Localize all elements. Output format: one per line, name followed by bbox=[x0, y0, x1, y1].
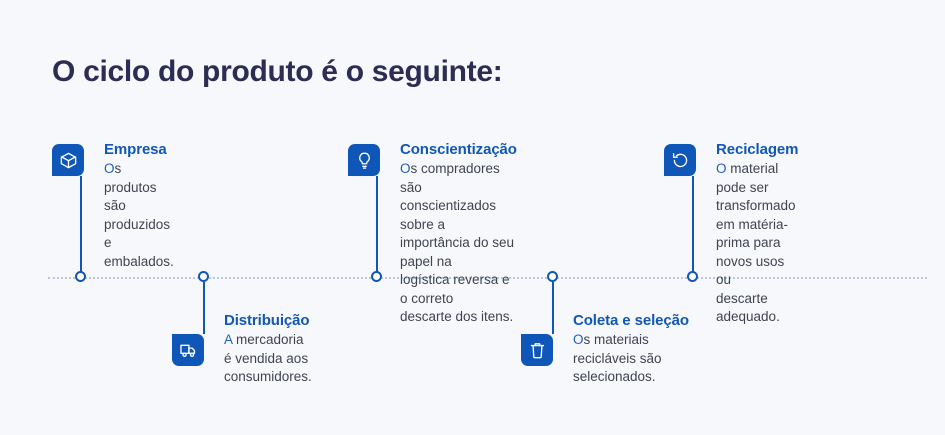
step-title-distribuicao: Distribuição bbox=[224, 312, 312, 329]
step-description-reciclagem: O material pode ser transformado em maté… bbox=[716, 160, 798, 327]
stem-reciclagem bbox=[692, 176, 694, 272]
step-description-conscientizacao: Os compradores são conscientizados sobre… bbox=[400, 160, 517, 327]
step-icon-badge-empresa bbox=[52, 144, 84, 176]
step-description-coleta-e-selecao: Os materiais recicláveis são selecionado… bbox=[573, 331, 689, 387]
step-text-reciclagem: Reciclagem O material pode ser transform… bbox=[716, 141, 798, 327]
step-text-conscientizacao: Conscientização Os compradores são consc… bbox=[400, 141, 517, 327]
stem-empresa bbox=[80, 176, 82, 272]
package-box-icon bbox=[59, 151, 78, 170]
step-title-conscientizacao: Conscientização bbox=[400, 141, 517, 158]
stem-conscientizacao bbox=[376, 176, 378, 272]
delivery-truck-icon bbox=[179, 341, 198, 360]
timeline-node-reciclagem bbox=[687, 271, 698, 282]
stem-coleta-e-selecao bbox=[552, 282, 554, 334]
step-icon-badge-distribuicao bbox=[172, 334, 204, 366]
step-description-distribuicao: A mercadoria é vendida aos consumidores. bbox=[224, 331, 312, 387]
page-title: O ciclo do produto é o seguinte: bbox=[52, 55, 502, 89]
step-title-reciclagem: Reciclagem bbox=[716, 141, 798, 158]
step-text-coleta-e-selecao: Coleta e seleção Os materiais reciclávei… bbox=[573, 312, 689, 387]
lightbulb-icon bbox=[355, 151, 374, 170]
trash-bin-icon bbox=[528, 341, 547, 360]
timeline-node-empresa bbox=[75, 271, 86, 282]
timeline-node-coleta-e-selecao bbox=[547, 271, 558, 282]
step-description-empresa: Os produtos são produzidos e embalados. bbox=[104, 160, 174, 271]
step-text-empresa: Empresa Os produtos são produzidos e emb… bbox=[104, 141, 174, 271]
step-title-coleta-e-selecao: Coleta e seleção bbox=[573, 312, 689, 329]
recycle-arrow-icon bbox=[671, 151, 690, 170]
product-cycle-infographic: O ciclo do produto é o seguinte: Empresa… bbox=[0, 0, 945, 435]
step-icon-badge-reciclagem bbox=[664, 144, 696, 176]
step-icon-badge-coleta-e-selecao bbox=[521, 334, 553, 366]
step-title-empresa: Empresa bbox=[104, 141, 174, 158]
timeline-node-distribuicao bbox=[198, 271, 209, 282]
step-icon-badge-conscientizacao bbox=[348, 144, 380, 176]
timeline-node-conscientizacao bbox=[371, 271, 382, 282]
step-text-distribuicao: Distribuição A mercadoria é vendida aos … bbox=[224, 312, 312, 387]
stem-distribuicao bbox=[203, 282, 205, 334]
